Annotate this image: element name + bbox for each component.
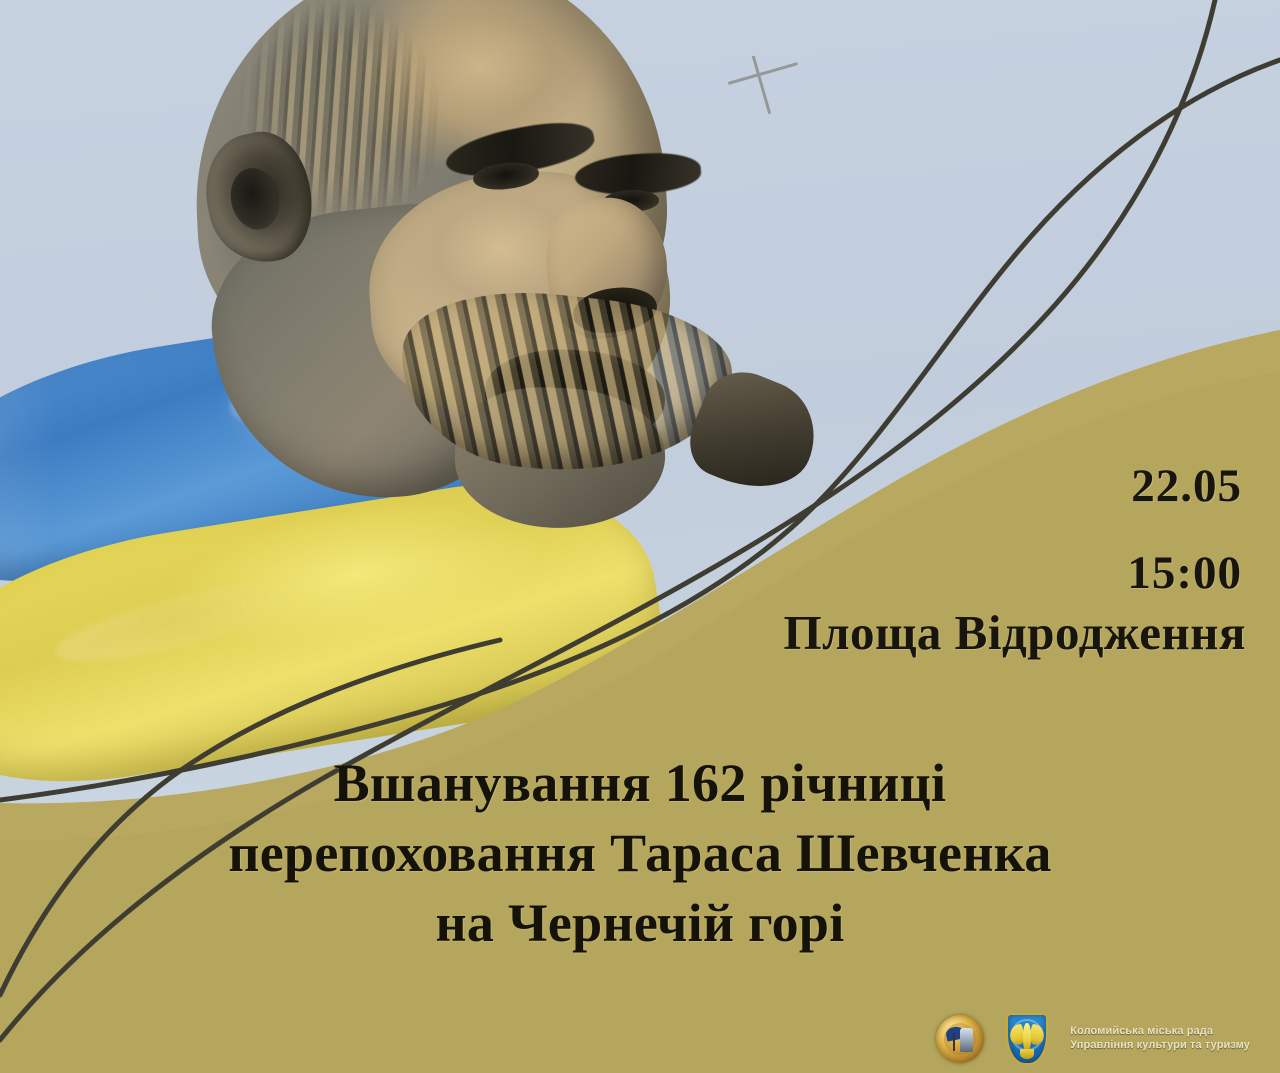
statue-ear-inner bbox=[225, 164, 285, 235]
event-poster: 22.05 15:00 Площа Відродження Вшанування… bbox=[0, 0, 1280, 1073]
footer-logos: Коломийська міська рада Управління культ… bbox=[936, 1013, 1250, 1065]
eagle-body bbox=[1023, 1023, 1031, 1051]
shevchenko-statue-head bbox=[155, 0, 715, 558]
organizer-line-2: Управління культури та туризму bbox=[1070, 1039, 1250, 1053]
museum-emblem-icon bbox=[936, 1015, 984, 1063]
organizer-text: Коломийська міська рада Управління культ… bbox=[1070, 1025, 1250, 1053]
event-datetime-block: 22.05 15:00 bbox=[1127, 463, 1242, 597]
eagle-tail bbox=[1020, 1049, 1034, 1059]
event-date: 22.05 bbox=[1127, 463, 1242, 510]
kolomyia-coat-of-arms-icon bbox=[1006, 1013, 1048, 1065]
eagle-icon bbox=[1010, 1023, 1044, 1053]
organizer-line-1: Коломийська міська рада bbox=[1070, 1025, 1250, 1039]
event-headline: Вшанування 162 річниці перепоховання Тар… bbox=[0, 748, 1280, 959]
headline-line-2: перепоховання Тараса Шевченка bbox=[0, 818, 1280, 888]
museum-emblem-tower bbox=[960, 1028, 973, 1052]
headline-line-3: на Чернечій горі bbox=[0, 888, 1280, 958]
event-time: 15:00 bbox=[1127, 550, 1242, 597]
museum-emblem-pole bbox=[953, 1033, 955, 1051]
headline-line-1: Вшанування 162 річниці bbox=[0, 748, 1280, 818]
event-place: Площа Відродження bbox=[783, 604, 1246, 661]
